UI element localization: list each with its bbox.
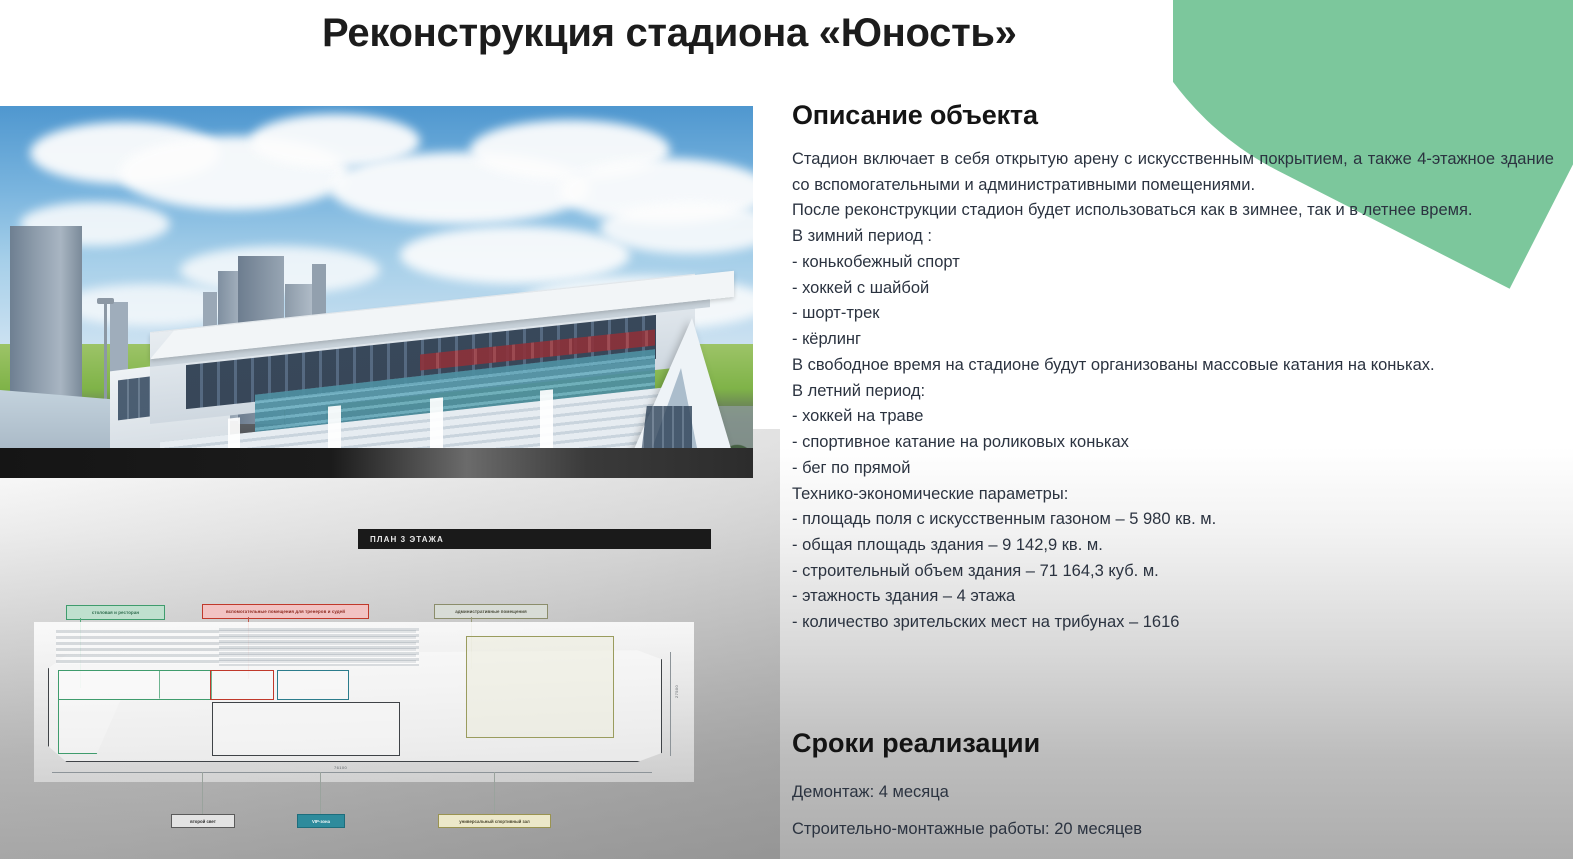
dimension-tick: [494, 772, 495, 814]
room-staff: [210, 670, 274, 700]
dimension-tick: [202, 772, 203, 814]
cloud-shape: [400, 226, 630, 284]
description-heading: Описание объекта: [792, 100, 1554, 131]
description-list-item: - кёрлинг: [792, 327, 1554, 353]
dimension-line-bottom: [52, 772, 652, 773]
description-paragraph: В свободное время на стадионе будут орга…: [792, 353, 1554, 379]
floor-plan-legend: столовая и ресторан вспомогательные поме…: [34, 600, 694, 622]
parameter-field-area: - площадь поля с искусственным газоном –…: [792, 507, 1554, 533]
terms-item-construction: Строительно-монтажные работы: 20 месяцев: [792, 818, 1554, 841]
plan-label-universal-hall: универсальный спортивный зал: [438, 814, 551, 828]
terms-item-demolition: Демонтаж: 4 месяца: [792, 781, 1554, 804]
presentation-slide: Реконструкция стадиона «Юность»: [0, 0, 1573, 859]
room-universal-hall: [466, 636, 614, 738]
description-list-item: - хоккей на траве: [792, 404, 1554, 430]
description-list-item: - хоккей с шайбой: [792, 276, 1554, 302]
plan-caption-label: ПЛАН 3 ЭТАЖА: [370, 535, 444, 544]
description-paragraph: После реконструкции стадион будет исполь…: [792, 198, 1554, 224]
description-paragraph: В зимний период :: [792, 224, 1554, 250]
plan-label-second-light: второй свет: [171, 814, 235, 828]
dimension-value-bottom: 76100: [334, 765, 347, 770]
parameter-seats: - количество зрительских мест на трибуна…: [792, 610, 1554, 636]
plan-caption-bar: ПЛАН 3 ЭТАЖА: [358, 529, 711, 549]
terms-heading: Сроки реализации: [792, 728, 1554, 759]
page-title: Реконструкция стадиона «Юность»: [322, 10, 1282, 56]
room-second-light: [212, 702, 400, 756]
image-bottom-band: [0, 448, 753, 478]
legend-item-admin-rooms: административные помещения: [434, 604, 548, 619]
dimension-value-right: 27500: [674, 685, 679, 698]
description-list-item: - бег по прямой: [792, 456, 1554, 482]
description-paragraph: Технико-экономические параметры:: [792, 482, 1554, 508]
terms-section: Сроки реализации Демонтаж: 4 месяца Стро…: [792, 728, 1554, 855]
description-list-item: - шорт-трек: [792, 301, 1554, 327]
description-paragraph: Стадион включает в себя открытую арену с…: [792, 147, 1554, 198]
description-list-item: - спортивное катание на роликовых конька…: [792, 430, 1554, 456]
dimension-line-right: [670, 652, 671, 756]
plan-label-vip-zone: VIP-зона: [297, 814, 345, 828]
dimension-tick: [320, 772, 321, 814]
parameter-building-volume: - строительный объем здания – 71 164,3 к…: [792, 559, 1554, 585]
description-body: Стадион включает в себя открытую арену с…: [792, 147, 1554, 636]
stadium-render-image: [0, 106, 753, 478]
parameter-total-area: - общая площадь здания – 9 142,9 кв. м.: [792, 533, 1554, 559]
plan-linework: 76100 27500 второй свет VIP-зона универс…: [34, 622, 694, 782]
floor-plan-drawing: столовая и ресторан вспомогательные поме…: [34, 600, 694, 812]
description-section: Описание объекта Стадион включает в себя…: [792, 100, 1554, 636]
tribune-hatching: [219, 628, 419, 666]
room-dining: [58, 670, 212, 700]
legend-item-staff-rooms: вспомогательные помещения для тренеров и…: [202, 604, 369, 619]
description-list-item: - конькобежный спорт: [792, 250, 1554, 276]
description-paragraph: В летний период:: [792, 379, 1554, 405]
room-vip: [277, 670, 349, 700]
parameter-floors: - этажность здания – 4 этажа: [792, 584, 1554, 610]
